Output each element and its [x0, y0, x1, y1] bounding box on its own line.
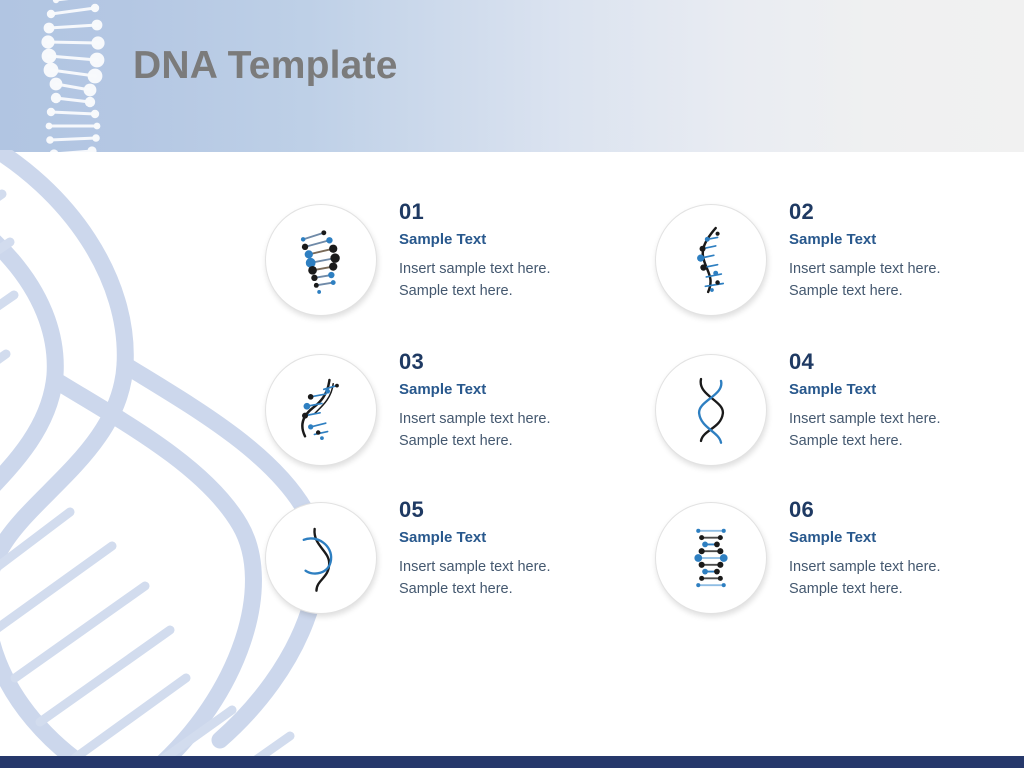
- item-number: 03: [399, 350, 645, 373]
- dna-curved-strand-icon: [265, 354, 377, 466]
- items-grid: 01 Sample Text Insert sample text here. …: [0, 152, 1024, 756]
- item-body-line: Insert sample text here.: [399, 258, 645, 280]
- item-heading: Sample Text: [789, 530, 1024, 547]
- item-number: 01: [399, 200, 645, 223]
- item-text-block: 02 Sample Text Insert sample text here. …: [789, 200, 1024, 302]
- item-heading: Sample Text: [789, 232, 1024, 249]
- item-number: 05: [399, 498, 645, 521]
- list-item[interactable]: 02 Sample Text Insert sample text here. …: [655, 200, 1024, 330]
- item-body-line: Insert sample text here.: [789, 556, 1024, 578]
- slide-canvas: DNA Template: [0, 0, 1024, 768]
- item-body-line: Insert sample text here.: [399, 556, 645, 578]
- list-item[interactable]: 05 Sample Text Insert sample text here. …: [265, 498, 645, 628]
- item-text-block: 03 Sample Text Insert sample text here. …: [399, 350, 645, 452]
- slide-header: DNA Template: [0, 0, 1024, 152]
- item-body: Insert sample text here. Sample text her…: [789, 556, 1024, 600]
- item-heading: Sample Text: [399, 382, 645, 399]
- item-number: 04: [789, 350, 1024, 373]
- item-body-line: Sample text here.: [789, 430, 1024, 452]
- item-body-line: Sample text here.: [789, 578, 1024, 600]
- item-heading: Sample Text: [399, 530, 645, 547]
- item-text-block: 04 Sample Text Insert sample text here. …: [789, 350, 1024, 452]
- item-body-line: Insert sample text here.: [789, 258, 1024, 280]
- item-body-line: Insert sample text here.: [399, 408, 645, 430]
- item-heading: Sample Text: [399, 232, 645, 249]
- footer-bar: [0, 756, 1024, 768]
- item-body: Insert sample text here. Sample text her…: [399, 408, 645, 452]
- item-text-block: 05 Sample Text Insert sample text here. …: [399, 498, 645, 600]
- page-title: DNA Template: [133, 44, 398, 88]
- item-number: 06: [789, 498, 1024, 521]
- list-item[interactable]: 06 Sample Text Insert sample text here. …: [655, 498, 1024, 628]
- item-body: Insert sample text here. Sample text her…: [789, 258, 1024, 302]
- list-item[interactable]: 04 Sample Text Insert sample text here. …: [655, 350, 1024, 480]
- dna-ladder-helix-icon: [655, 502, 767, 614]
- dna-double-helix-icon: [655, 354, 767, 466]
- item-body-line: Sample text here.: [399, 430, 645, 452]
- item-body: Insert sample text here. Sample text her…: [399, 556, 645, 600]
- dna-twisted-strand-icon: [265, 502, 377, 614]
- list-item[interactable]: 03 Sample Text Insert sample text here. …: [265, 350, 645, 480]
- item-body: Insert sample text here. Sample text her…: [399, 258, 645, 302]
- item-text-block: 01 Sample Text Insert sample text here. …: [399, 200, 645, 302]
- list-item[interactable]: 01 Sample Text Insert sample text here. …: [265, 200, 645, 330]
- item-body: Insert sample text here. Sample text her…: [789, 408, 1024, 452]
- item-number: 02: [789, 200, 1024, 223]
- item-body-line: Sample text here.: [399, 280, 645, 302]
- dna-single-strand-icon: [655, 204, 767, 316]
- dna-dotted-helix-icon: [265, 204, 377, 316]
- dna-helix-icon: [36, 0, 110, 158]
- item-body-line: Sample text here.: [789, 280, 1024, 302]
- item-body-line: Insert sample text here.: [789, 408, 1024, 430]
- item-heading: Sample Text: [789, 382, 1024, 399]
- item-body-line: Sample text here.: [399, 578, 645, 600]
- item-text-block: 06 Sample Text Insert sample text here. …: [789, 498, 1024, 600]
